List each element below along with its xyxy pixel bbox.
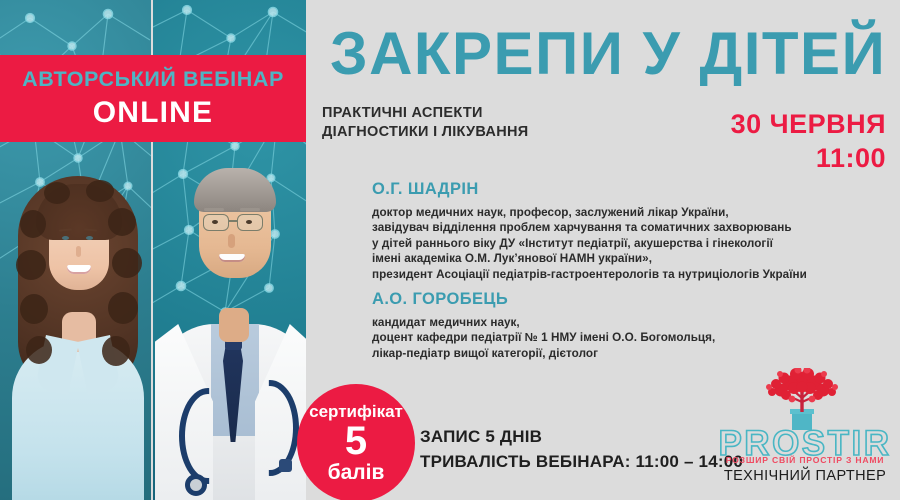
webinar-duration: ТРИВАЛІСТЬ ВЕБІНАРА: 11:00 – 14:00 [420,449,743,474]
speaker-card-2: А.О. ГОРОБЕЦЬ кандидат медичних наук, до… [372,291,715,361]
credential-line: імені академіка О.М. Лук’янової НАМН укр… [372,251,807,267]
recording-availability: ЗАПИС 5 ДНІВ [420,424,743,449]
speaker-credentials: кандидат медичних наук, доцент кафедри п… [372,315,715,362]
partner-logo: PROSTIR РОЗШИР СВІЙ ПРОСТІР З НАМИ ТЕХНІ… [716,368,894,494]
banner-online-label: ONLINE [93,98,214,128]
speakers-photo-panel: АВТОРСЬКИЙ ВЕБІНАР ONLINE [0,0,306,500]
logo-tagline: РОЗШИР СВІЙ ПРОСТІР З НАМИ [716,456,894,465]
subtitle-line-1: ПРАКТИЧНІ АСПЕКТИ [322,104,528,123]
credential-line: доктор медичних наук, професор, заслужен… [372,205,807,221]
speaker-name: А.О. ГОРОБЕЦЬ [372,291,715,308]
event-time: 11:00 [731,144,886,172]
tree-icon [750,368,854,430]
certificate-unit: балів [328,462,385,483]
credential-line: кандидат медичних наук, [372,315,715,331]
certificate-badge: сертифікат 5 балів [297,384,415,500]
speaker-credentials: доктор медичних наук, професор, заслужен… [372,205,807,283]
certificate-points: 5 [345,421,367,461]
event-datetime: 30 ЧЕРВНЯ 11:00 [731,110,886,173]
event-date: 30 ЧЕРВНЯ [731,110,886,138]
credential-line: у дітей раннього віку ДУ «Інститут педіа… [372,236,807,252]
credential-line: президент Асоціації педіатрів-гастроенте… [372,267,807,283]
avatar [4,170,151,500]
partner-label: ТЕХНІЧНИЙ ПАРТНЕР [716,469,894,484]
subtitle-line-2: ДІАГНОСТИКИ І ЛІКУВАННЯ [322,123,528,142]
credential-line: лікар-педіатр вищої категорії, дієтолог [372,346,715,362]
page-title: ЗАКРЕПИ У ДІТЕЙ [330,24,895,84]
event-details: ЗАПИС 5 ДНІВ ТРИВАЛІСТЬ ВЕБІНАРА: 11:00 … [420,424,743,474]
credential-line: доцент кафедри педіатрії № 1 НМУ імені О… [372,330,715,346]
avatar [159,150,306,500]
speaker-card-1: О.Г. ШАДРІН доктор медичних наук, профес… [372,181,807,282]
page-subtitle: ПРАКТИЧНІ АСПЕКТИ ДІАГНОСТИКИ І ЛІКУВАНН… [322,104,528,142]
webinar-type-banner: АВТОРСЬКИЙ ВЕБІНАР ONLINE [0,55,306,142]
certificate-label: сертифікат [309,403,403,420]
credential-line: завідувач відділення проблем харчування … [372,220,807,236]
banner-title: АВТОРСЬКИЙ ВЕБІНАР [22,69,284,91]
webinar-poster: АВТОРСЬКИЙ ВЕБІНАР ONLINE ЗАКРЕПИ У ДІТЕ… [0,0,900,500]
speaker-name: О.Г. ШАДРІН [372,181,807,198]
